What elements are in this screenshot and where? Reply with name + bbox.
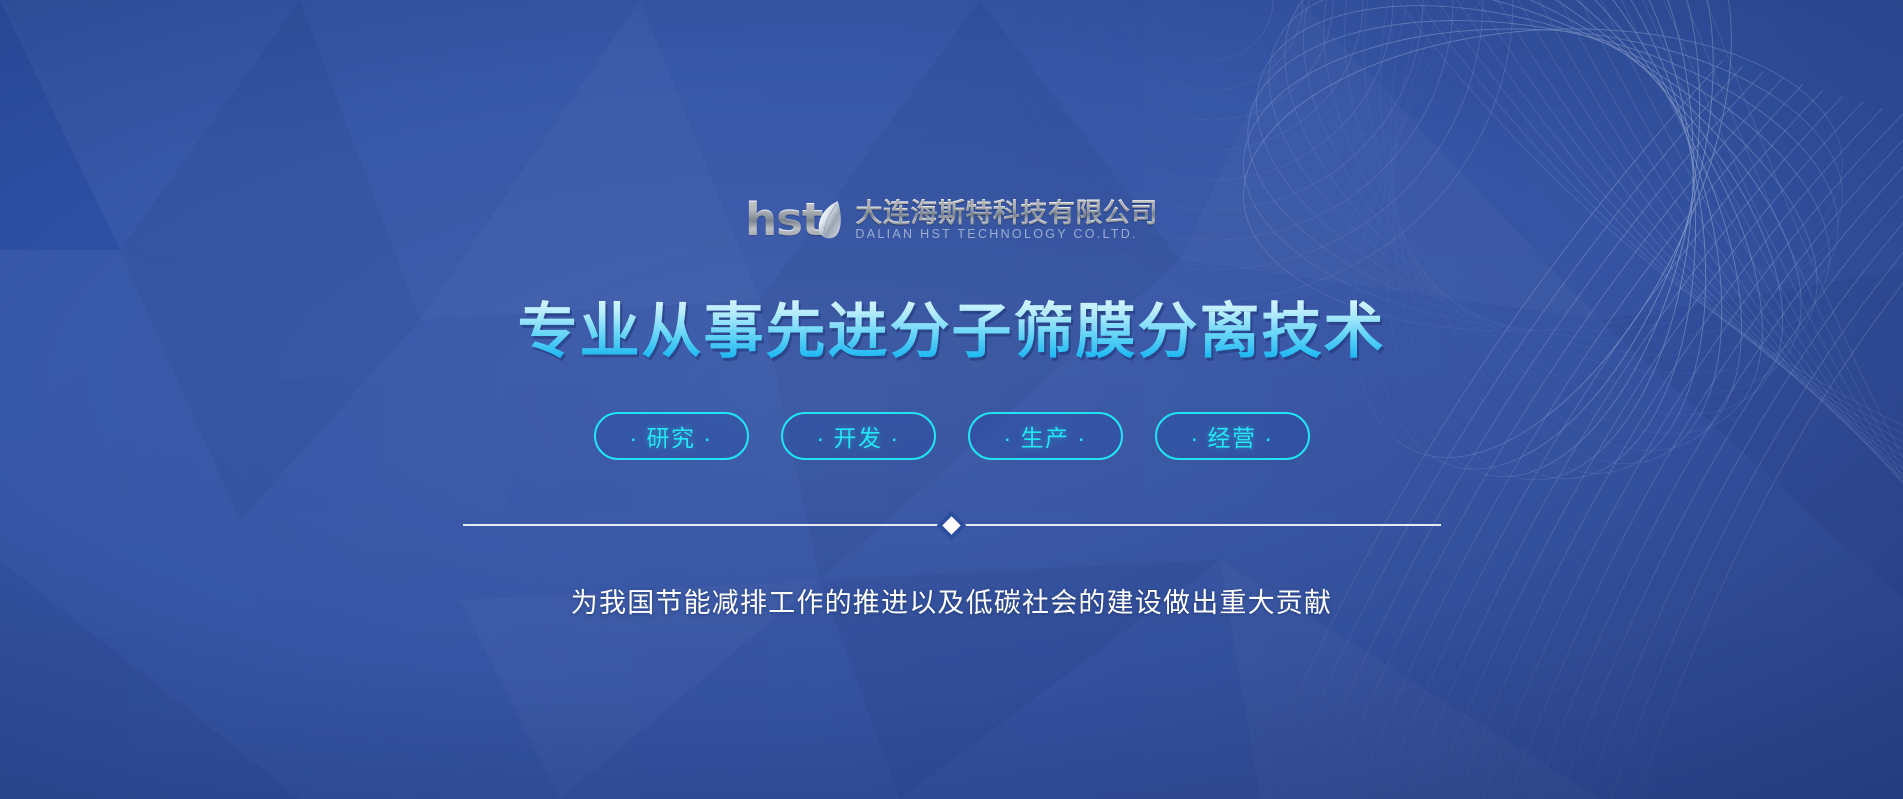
banner-content: hst — [0, 0, 1903, 799]
company-name-en: DALIAN HST TECHNOLOGY CO.LTD. — [855, 228, 1158, 241]
logo-wordmark: hst — [745, 198, 822, 242]
badge-research[interactable]: · 研究 · — [594, 412, 749, 460]
capability-badges: · 研究 · · 开发 · · 生产 · · 经营 · — [594, 412, 1310, 460]
logo-text-block: 大连海斯特科技有限公司 DALIAN HST TECHNOLOGY CO.LTD… — [855, 199, 1158, 242]
company-logo[interactable]: hst — [745, 196, 1158, 242]
diamond-icon — [942, 516, 960, 534]
divider — [463, 518, 1441, 532]
badge-production[interactable]: · 生产 · — [968, 412, 1123, 460]
logo-mark: hst — [745, 196, 842, 242]
badge-development[interactable]: · 开发 · — [781, 412, 936, 460]
page-title: 专业从事先进分子筛膜分离技术 — [518, 296, 1386, 368]
leaf-icon — [815, 199, 842, 241]
company-name-cn: 大连海斯特科技有限公司 — [855, 199, 1158, 227]
tagline: 为我国节能减排工作的推进以及低碳社会的建设做出重大贡献 — [571, 584, 1332, 622]
hero-banner: hst — [0, 0, 1903, 799]
badge-operation[interactable]: · 经营 · — [1155, 412, 1310, 460]
